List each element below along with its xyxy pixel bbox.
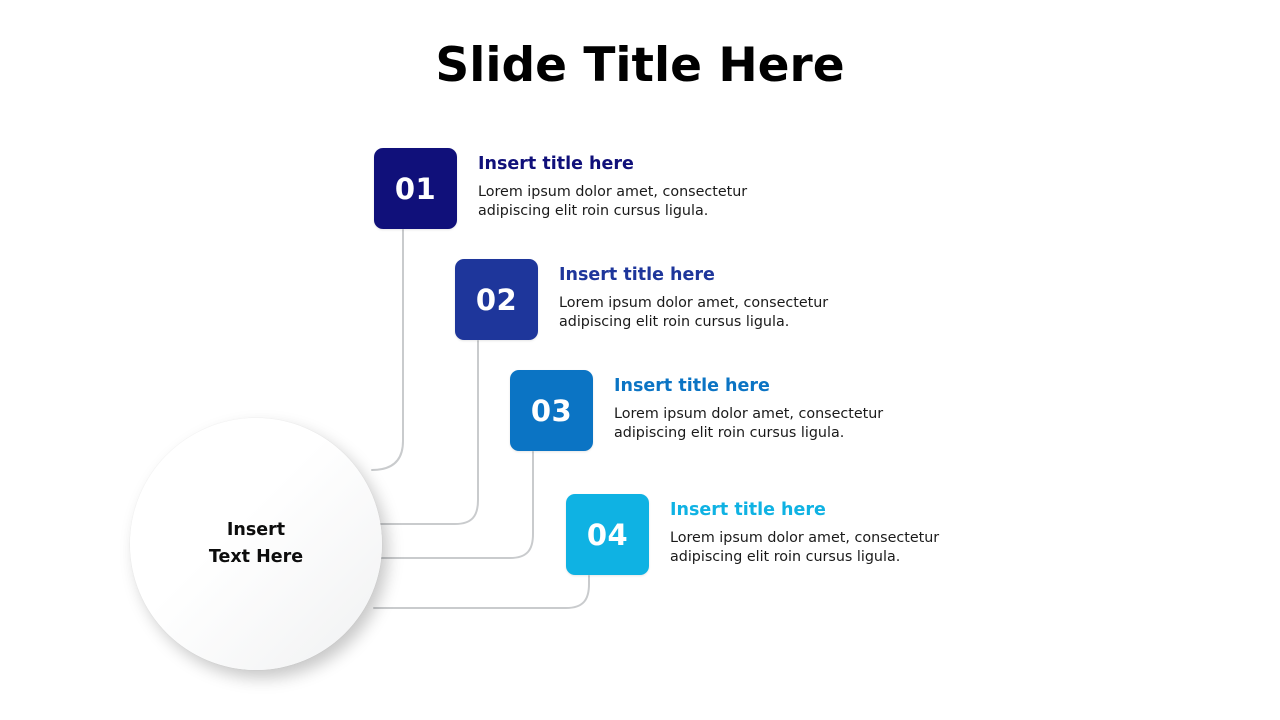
step-number-box-01[interactable]: 01	[374, 148, 457, 229]
connector-path-02	[379, 341, 478, 524]
step-description-04: Lorem ipsum dolor amet, consectetur adip…	[670, 529, 950, 567]
step-text-block-02: Insert title here Lorem ipsum dolor amet…	[559, 259, 839, 332]
step-number-label-04: 04	[587, 518, 628, 552]
step-number-label-01: 01	[395, 172, 436, 206]
step-title-01: Insert title here	[478, 154, 758, 175]
step-description-01: Lorem ipsum dolor amet, consectetur adip…	[478, 183, 758, 221]
step-description-02: Lorem ipsum dolor amet, consectetur adip…	[559, 294, 839, 332]
step-text-block-03: Insert title here Lorem ipsum dolor amet…	[614, 370, 894, 443]
center-hub-line-1: Insert	[209, 517, 303, 544]
step-number-box-04[interactable]: 04	[566, 494, 649, 575]
step-item-04[interactable]: 04 Insert title here Lorem ipsum dolor a…	[566, 494, 950, 575]
center-hub-label: Insert Text Here	[209, 517, 303, 571]
connector-path-04	[374, 576, 589, 608]
step-item-03[interactable]: 03 Insert title here Lorem ipsum dolor a…	[510, 370, 894, 451]
step-number-label-02: 02	[476, 283, 517, 317]
center-hub-circle[interactable]: Insert Text Here	[130, 418, 382, 670]
connector-path-03	[379, 452, 533, 558]
step-title-03: Insert title here	[614, 376, 894, 397]
step-number-label-03: 03	[531, 394, 572, 428]
step-text-block-04: Insert title here Lorem ipsum dolor amet…	[670, 494, 950, 567]
step-item-02[interactable]: 02 Insert title here Lorem ipsum dolor a…	[455, 259, 839, 340]
step-title-02: Insert title here	[559, 265, 839, 286]
center-hub-line-2: Text Here	[209, 544, 303, 571]
connector-path-01	[372, 230, 403, 470]
step-text-block-01: Insert title here Lorem ipsum dolor amet…	[478, 148, 758, 221]
step-title-04: Insert title here	[670, 500, 950, 521]
step-number-box-02[interactable]: 02	[455, 259, 538, 340]
slide-canvas: Slide Title Here Insert Text Here 01 Ins…	[0, 0, 1280, 720]
step-number-box-03[interactable]: 03	[510, 370, 593, 451]
step-description-03: Lorem ipsum dolor amet, consectetur adip…	[614, 405, 894, 443]
step-item-01[interactable]: 01 Insert title here Lorem ipsum dolor a…	[374, 148, 758, 229]
